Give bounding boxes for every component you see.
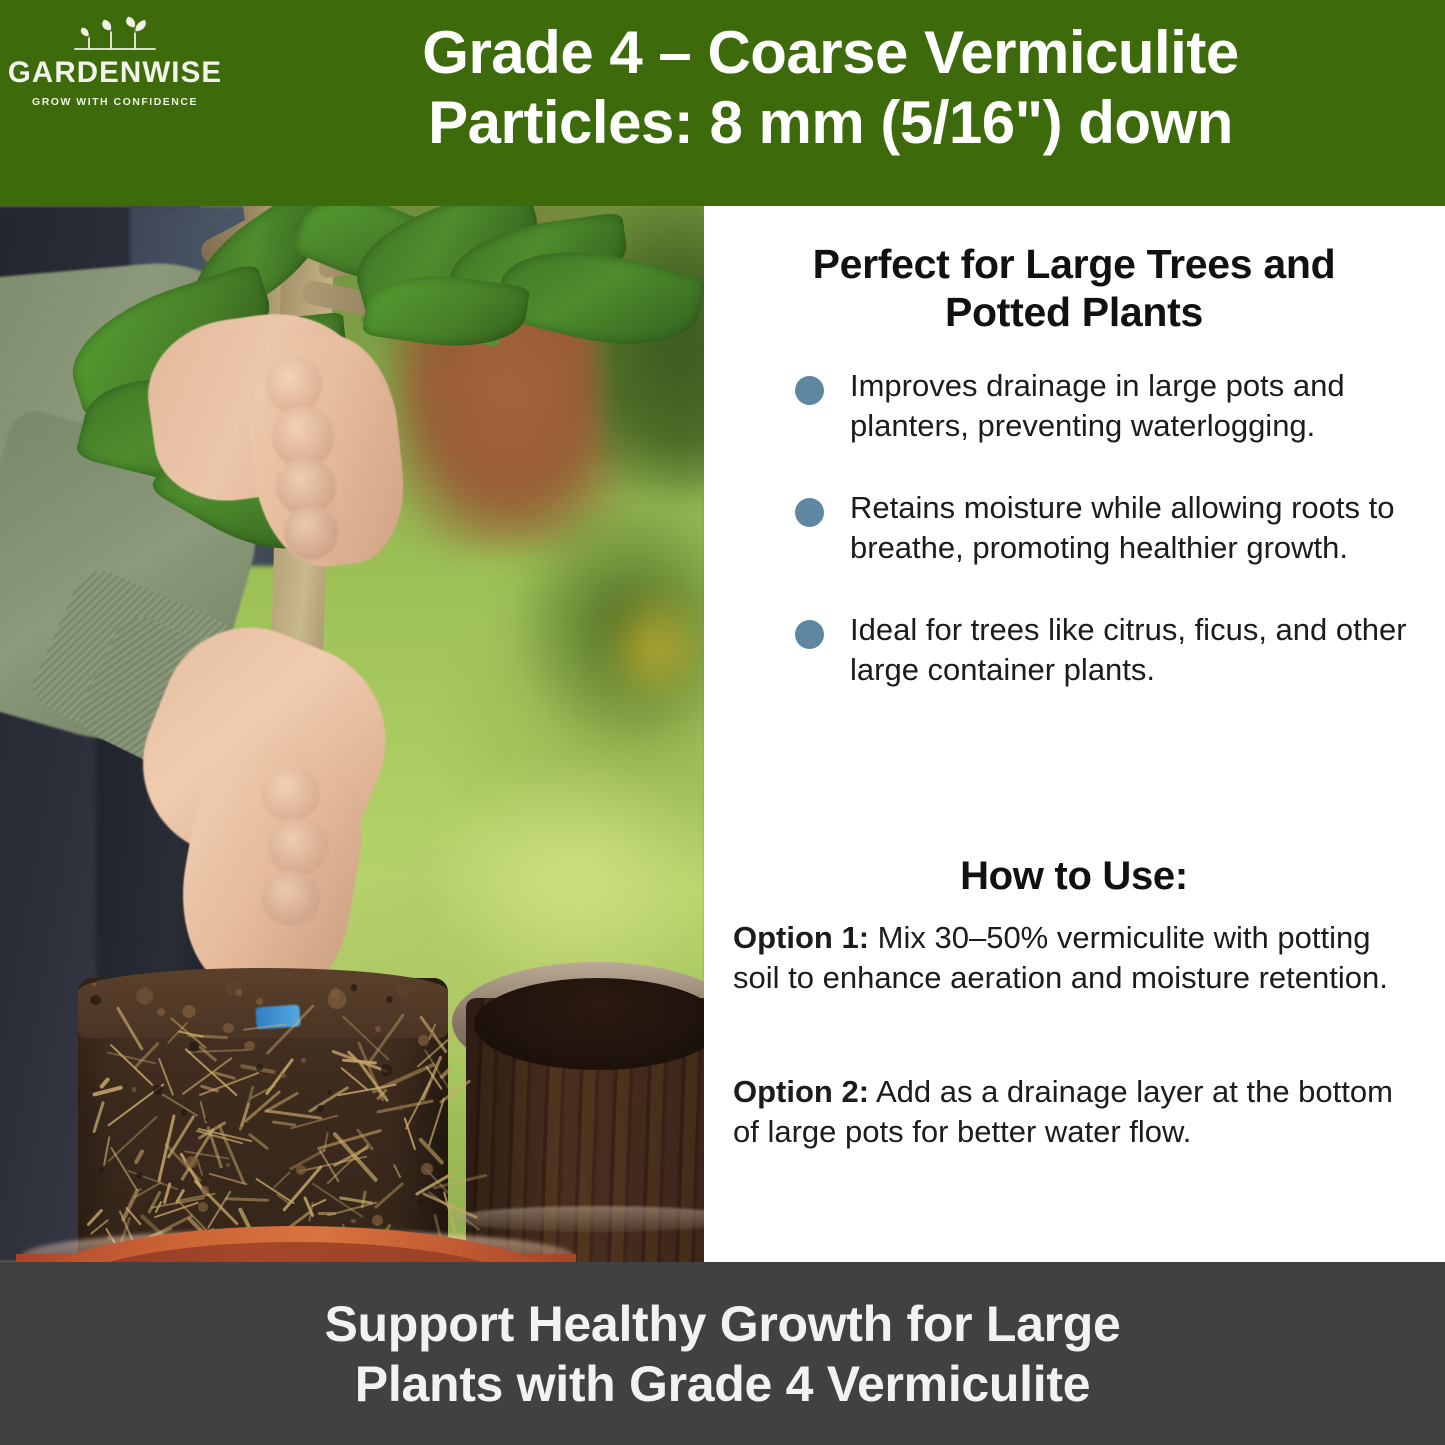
header-banner: GARDENWISE GROW WITH CONFIDENCE Grade 4 … bbox=[0, 0, 1445, 206]
bullet-dot-icon bbox=[795, 620, 824, 649]
soil-speck bbox=[189, 1041, 199, 1051]
list-item: Ideal for trees like citrus, ficus, and … bbox=[704, 610, 1445, 690]
soil-speck bbox=[351, 984, 358, 991]
soil-speck bbox=[381, 1064, 392, 1075]
benefit-text: Ideal for trees like citrus, ficus, and … bbox=[850, 610, 1427, 690]
footer-text: Support Healthy Growth for Large Plants … bbox=[325, 1294, 1121, 1414]
product-infographic: GARDENWISE GROW WITH CONFIDENCE Grade 4 … bbox=[0, 0, 1445, 1445]
usage-option-1: Option 1: Mix 30–50% vermiculite with po… bbox=[733, 918, 1417, 999]
knuckle bbox=[284, 506, 338, 560]
header-title-line-1: Grade 4 – Coarse Vermiculite bbox=[228, 18, 1433, 88]
soil-speck bbox=[317, 1105, 324, 1112]
three-sprouts-icon bbox=[61, 12, 169, 56]
bullet-dot-icon bbox=[795, 498, 824, 527]
soil-speck bbox=[198, 1202, 208, 1212]
section-heading-line-1: Perfect for Large Trees and bbox=[813, 241, 1336, 287]
brand-logo: GARDENWISE GROW WITH CONFIDENCE bbox=[8, 12, 222, 120]
soil-speck bbox=[386, 996, 393, 1003]
soil-speck bbox=[256, 1064, 263, 1071]
knuckle bbox=[262, 870, 320, 926]
content-panel: Perfect for Large Trees and Potted Plant… bbox=[704, 206, 1445, 1262]
benefit-text: Improves drainage in large pots and plan… bbox=[850, 366, 1427, 446]
brand-name: GARDENWISE bbox=[8, 58, 222, 88]
knuckle bbox=[262, 766, 320, 822]
list-item: Improves drainage in large pots and plan… bbox=[704, 366, 1445, 446]
knuckle bbox=[268, 818, 328, 876]
barrel-planter-opening bbox=[474, 978, 704, 1070]
usage-option-1-label: Option 1: bbox=[733, 920, 869, 955]
soil-speck bbox=[281, 1073, 286, 1078]
soil-speck bbox=[236, 989, 243, 996]
usage-heading: How to Use: bbox=[724, 854, 1424, 899]
soil-speck bbox=[205, 1118, 208, 1121]
list-item: Retains moisture while allowing roots to… bbox=[704, 488, 1445, 568]
usage-option-2: Option 2: Add as a drainage layer at the… bbox=[733, 1072, 1417, 1153]
brand-tagline: GROW WITH CONFIDENCE bbox=[32, 97, 198, 108]
benefits-list: Improves drainage in large pots and plan… bbox=[704, 366, 1445, 732]
section-heading-line-2: Potted Plants bbox=[945, 289, 1203, 335]
footer-line-1: Support Healthy Growth for Large bbox=[325, 1294, 1121, 1354]
header-title: Grade 4 – Coarse Vermiculite Particles: … bbox=[228, 18, 1433, 158]
soil-speck bbox=[223, 1023, 234, 1034]
bullet-dot-icon bbox=[795, 376, 824, 405]
header-title-line-2: Particles: 8 mm (5/16") down bbox=[228, 88, 1433, 158]
footer-line-2: Plants with Grade 4 Vermiculite bbox=[325, 1354, 1121, 1414]
soil-speck bbox=[136, 1172, 143, 1179]
footer-banner: Support Healthy Growth for Large Plants … bbox=[0, 1262, 1445, 1445]
soil-speck bbox=[421, 1163, 433, 1175]
photo-background-light-patch bbox=[430, 766, 704, 996]
soil-speck bbox=[372, 1215, 383, 1226]
section-heading: Perfect for Large Trees and Potted Plant… bbox=[724, 240, 1424, 337]
soil-speck bbox=[98, 1168, 104, 1174]
benefit-text: Retains moisture while allowing roots to… bbox=[850, 488, 1427, 568]
knuckle bbox=[266, 356, 322, 414]
soil-speck bbox=[244, 1041, 255, 1052]
product-photo bbox=[0, 206, 704, 1262]
photo-background-yellow-accent bbox=[600, 586, 704, 706]
soil-speck bbox=[157, 1008, 165, 1016]
usage-option-2-label: Option 2: bbox=[733, 1074, 869, 1109]
soil-speck bbox=[418, 1035, 429, 1046]
soil-speck bbox=[418, 1199, 425, 1206]
